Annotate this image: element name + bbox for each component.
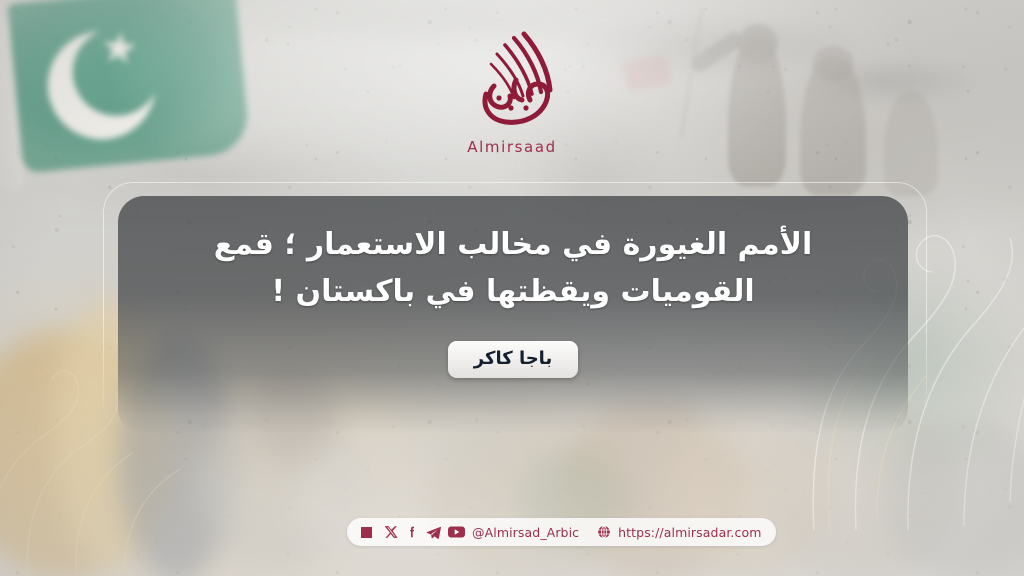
footer-bar: @Almirsad_Arbic https://almirsadar.com	[347, 518, 776, 546]
headline-card: الأمم الغيورة في مخالب الاستعمار ؛ قمع ا…	[118, 196, 908, 434]
brand-name: Almirsaad	[467, 138, 557, 156]
square-bullet-icon	[361, 527, 372, 538]
x-twitter-icon[interactable]	[384, 525, 398, 539]
page-title: الأمم الغيورة في مخالب الاستعمار ؛ قمع ا…	[148, 222, 878, 315]
brand-logo: Almirsaad	[0, 28, 1024, 156]
youtube-icon[interactable]	[448, 525, 465, 539]
website-url[interactable]: https://almirsadar.com	[618, 525, 761, 540]
social-media-card: Almirsaad الأمم الغيورة في مخالب الاستعم…	[0, 0, 1024, 576]
telegram-icon[interactable]	[426, 525, 441, 540]
social-handle[interactable]: @Almirsad_Arbic	[472, 525, 579, 540]
facebook-icon[interactable]	[405, 525, 419, 539]
almirsaad-calligraphy-logo-icon	[464, 28, 560, 134]
globe-icon	[597, 525, 611, 539]
author-badge: باجا كاكر	[448, 341, 578, 378]
